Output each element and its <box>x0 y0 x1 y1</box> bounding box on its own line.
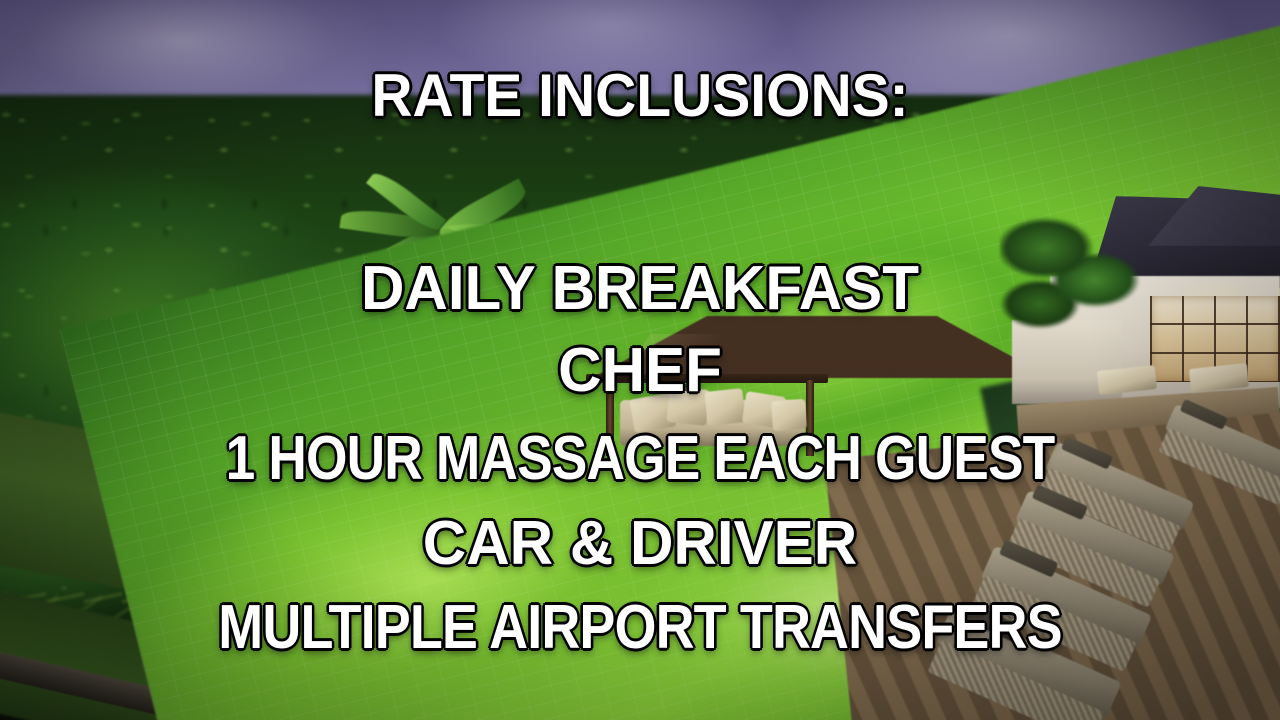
frangipani-tree <box>1000 208 1150 383</box>
cushion <box>704 388 745 426</box>
promo-image: RATE INCLUSIONS: DAILY BREAKFAST CHEF 1 … <box>0 0 1280 720</box>
cushion <box>666 386 710 426</box>
cushion <box>771 399 807 431</box>
bale-post <box>606 380 614 456</box>
roof-eave <box>586 374 828 383</box>
bale-post <box>806 380 814 456</box>
